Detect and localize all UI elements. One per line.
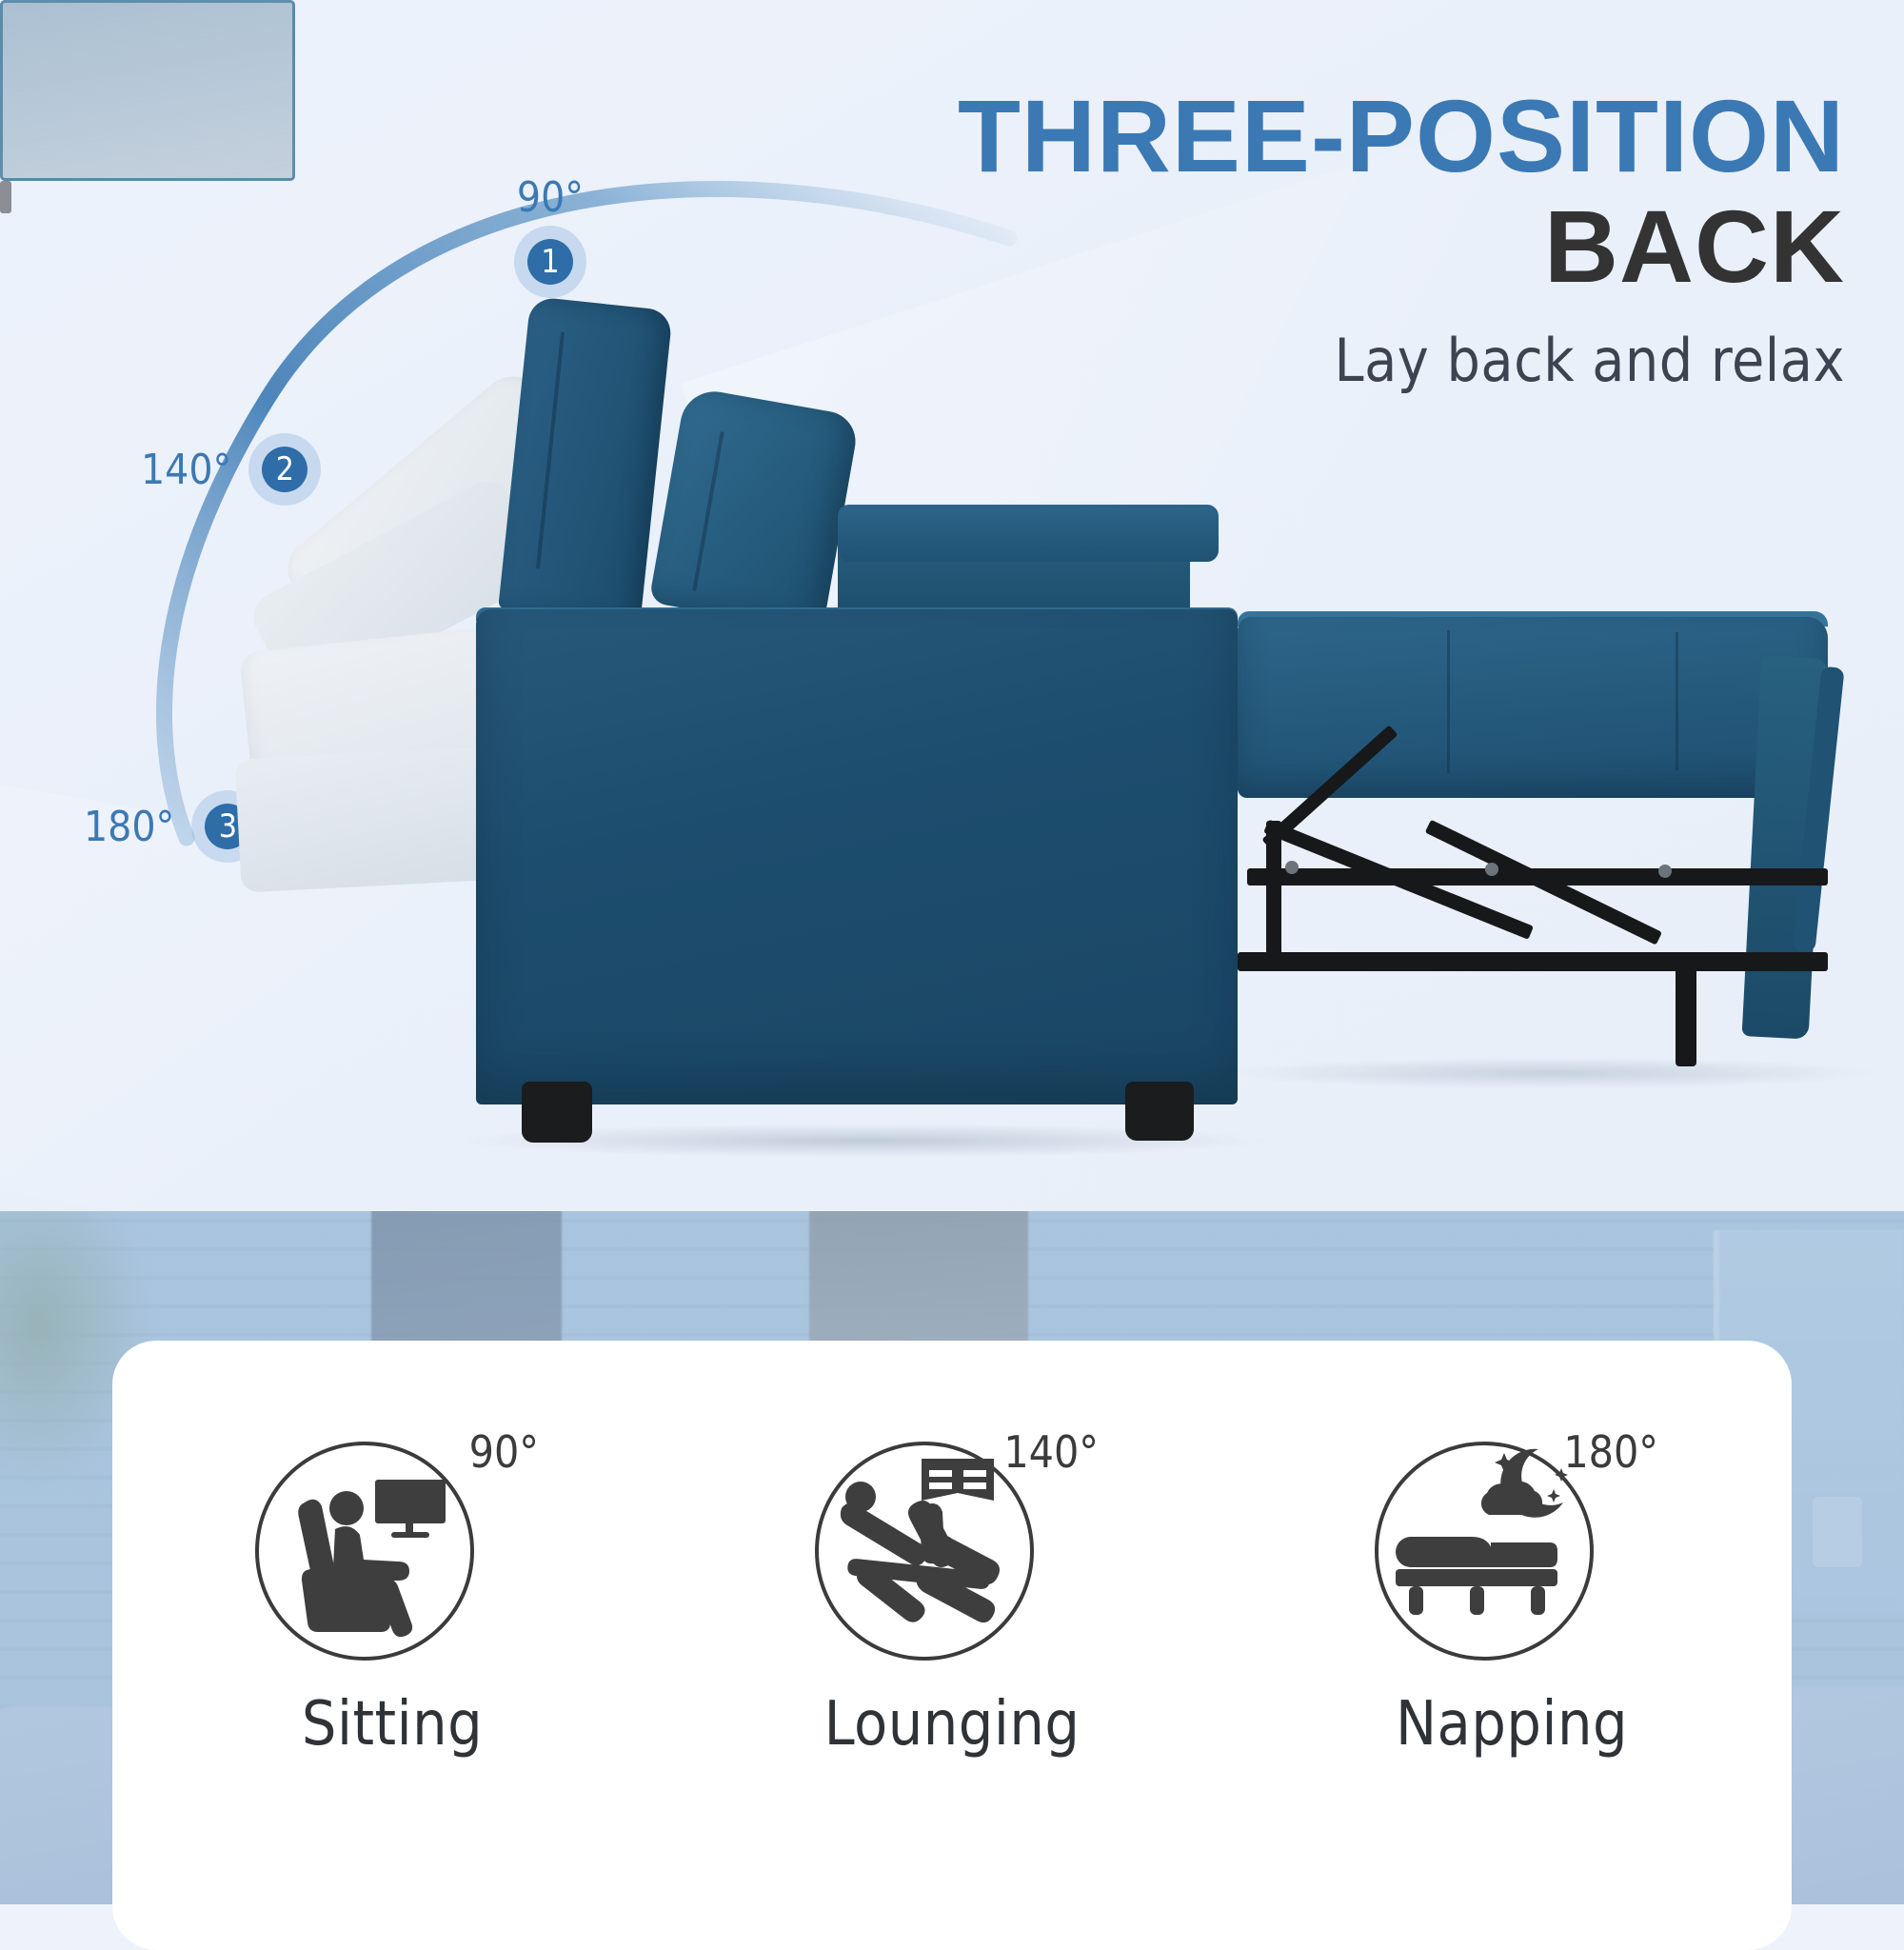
feature-napping-label: Napping	[1396, 1689, 1628, 1760]
product-photo-convertible-chair	[0, 0, 1904, 1211]
person-sitting-tv-icon	[255, 1442, 474, 1661]
feature-card: 90°	[112, 1341, 1792, 1950]
frame-support-leg	[1676, 962, 1696, 1066]
feature-list: 90°	[112, 1428, 1792, 1760]
frame-vertical-bar-1	[1266, 821, 1281, 964]
chair-side-pocket	[0, 0, 295, 181]
feature-sitting[interactable]: 90°	[188, 1428, 597, 1760]
feature-sitting-angle: 90°	[469, 1426, 539, 1478]
feature-sitting-icon-wrap: 90°	[240, 1428, 545, 1676]
feature-lounging[interactable]: 140°	[747, 1428, 1157, 1760]
frame-horizontal-bar-1	[1247, 868, 1828, 885]
chair-backrest	[498, 296, 673, 624]
frame-rivet	[1285, 861, 1299, 874]
chair-armrest	[838, 505, 1219, 562]
frame-rivet	[1485, 863, 1498, 876]
feature-lounging-icon-wrap: 140°	[800, 1428, 1104, 1676]
chair-leg-front	[522, 1082, 592, 1143]
person-napping-moon-icon	[1375, 1442, 1594, 1661]
footrest-tuft-seam-2	[1676, 632, 1678, 770]
footrest-tuft-seam-1	[1447, 630, 1450, 773]
chair-pillow	[648, 387, 860, 633]
feature-sitting-label: Sitting	[302, 1689, 483, 1760]
feature-napping-icon-wrap: 180°	[1359, 1428, 1664, 1676]
person-lounging-book-icon	[815, 1442, 1034, 1661]
hero-panel: 90° 1 140° 2 180° 3 THREE-POSITION BACK …	[0, 0, 1904, 1211]
floor-shadow-right	[1219, 1057, 1885, 1089]
chair-side-body	[476, 609, 1238, 1104]
chair-footrest-extension	[1238, 617, 1828, 798]
frame-rivet	[1658, 865, 1672, 878]
feature-lounging-label: Lounging	[824, 1689, 1081, 1760]
feature-napping[interactable]: 180°	[1307, 1428, 1716, 1760]
zipper-pull-icon	[0, 181, 11, 213]
chair-leg-rear	[1125, 1082, 1194, 1141]
frame-horizontal-bar-2	[1238, 952, 1828, 971]
